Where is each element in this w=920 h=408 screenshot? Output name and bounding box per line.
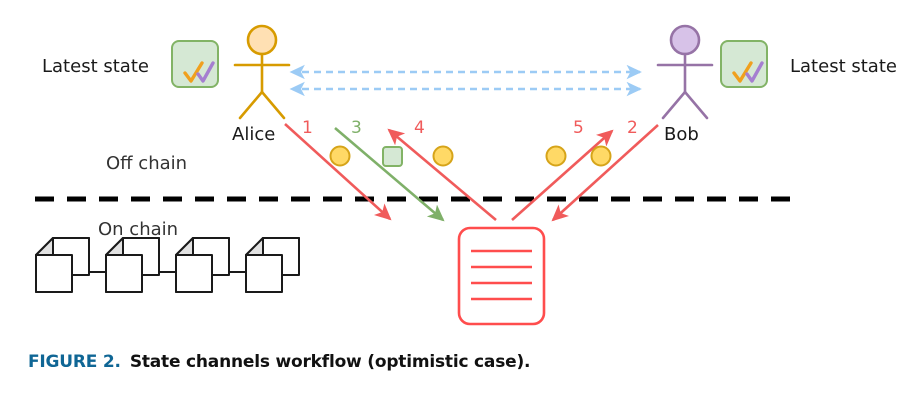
bob-leg-left bbox=[663, 92, 685, 118]
actor-bob bbox=[658, 26, 712, 118]
actor-alice bbox=[235, 26, 289, 118]
coin-icon bbox=[331, 147, 350, 166]
latest-state-label-right: Latest state bbox=[790, 56, 897, 77]
bob-leg-right bbox=[685, 92, 707, 118]
block bbox=[246, 238, 299, 292]
latest-state-box-alice bbox=[172, 41, 218, 87]
figure-caption: FIGURE 2.State channels workflow (optimi… bbox=[28, 352, 530, 372]
step-arrow-2 bbox=[553, 125, 658, 220]
coin-icon bbox=[547, 147, 566, 166]
token-row bbox=[331, 147, 611, 167]
coin-icon bbox=[434, 147, 453, 166]
alice-leg-right bbox=[262, 92, 284, 118]
figure-caption-text: State channels workflow (optimistic case… bbox=[130, 352, 530, 372]
off-chain-label: Off chain bbox=[106, 153, 187, 174]
state-channel-arrows bbox=[302, 72, 640, 89]
step-number-5: 5 bbox=[573, 118, 584, 138]
coin-icon bbox=[592, 147, 611, 166]
latest-state-label-left: Latest state bbox=[42, 56, 149, 77]
block bbox=[106, 238, 159, 292]
alice-head bbox=[248, 26, 276, 54]
figure-canvas: Latest state Latest state Alice Bob Off … bbox=[0, 0, 920, 408]
latest-state-box-bob bbox=[721, 41, 767, 87]
step-arrow-1 bbox=[285, 124, 390, 219]
block bbox=[36, 238, 89, 292]
smart-contract-document bbox=[459, 228, 544, 324]
step-arrow-5 bbox=[512, 131, 612, 220]
figure-number: FIGURE 2. bbox=[28, 352, 121, 372]
step-arrow-3 bbox=[335, 128, 443, 220]
step-arrow-4 bbox=[389, 130, 496, 220]
actor-label-alice: Alice bbox=[232, 124, 275, 145]
step-number-4: 4 bbox=[414, 118, 425, 138]
block bbox=[176, 238, 229, 292]
step-number-1: 1 bbox=[302, 118, 313, 138]
alice-leg-left bbox=[240, 92, 262, 118]
bob-head bbox=[671, 26, 699, 54]
blockchain-blocks bbox=[36, 238, 299, 292]
actor-label-bob: Bob bbox=[664, 124, 699, 145]
state-square-icon bbox=[383, 147, 402, 166]
step-number-2: 2 bbox=[627, 118, 638, 138]
step-number-3: 3 bbox=[351, 118, 362, 138]
on-chain-label: On chain bbox=[98, 219, 178, 240]
